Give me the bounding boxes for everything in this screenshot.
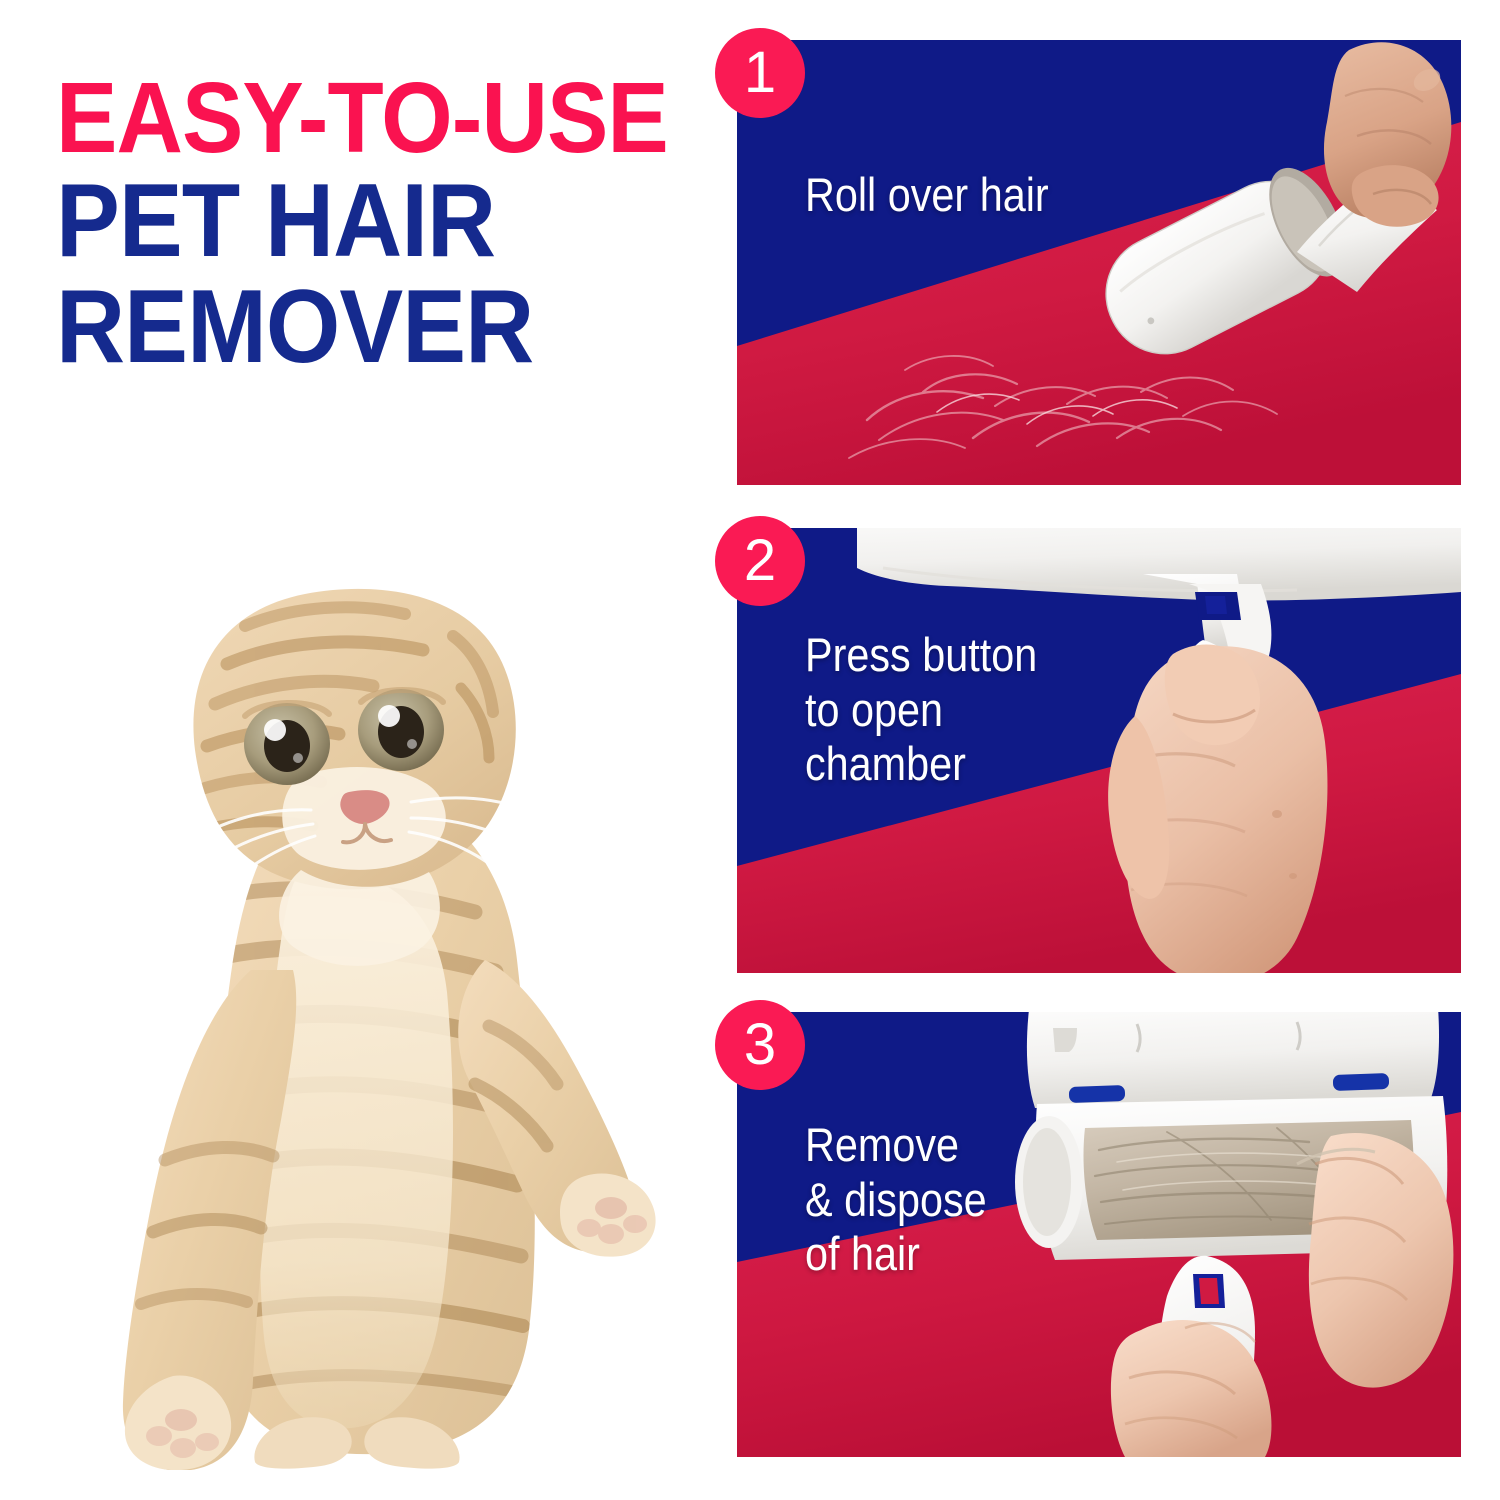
step-panel-2: 2 Press button to open chamber (737, 528, 1461, 973)
step-3-illustration (737, 1012, 1461, 1457)
page-title: EASY-TO-USE PET HAIR REMOVER (56, 70, 696, 384)
step-1-illustration (737, 40, 1461, 485)
step-panel-3: 3 Remove & dispose of hair (737, 1012, 1461, 1457)
headline-line-1: EASY-TO-USE (56, 70, 645, 166)
hero-cat-image (55, 540, 675, 1470)
headline-line-2: PET HAIR (56, 172, 645, 272)
step-badge-3: 3 (715, 1000, 805, 1090)
step-badge-1: 1 (715, 28, 805, 118)
step-badge-2: 2 (715, 516, 805, 606)
headline-line-3: REMOVER (56, 278, 645, 378)
step-panel-1: 1 Roll over hair (737, 40, 1461, 485)
infographic-canvas: EASY-TO-USE PET HAIR REMOVER (0, 0, 1500, 1500)
step-2-illustration (737, 528, 1461, 973)
steps-list: 1 Roll over hair (737, 40, 1461, 1440)
